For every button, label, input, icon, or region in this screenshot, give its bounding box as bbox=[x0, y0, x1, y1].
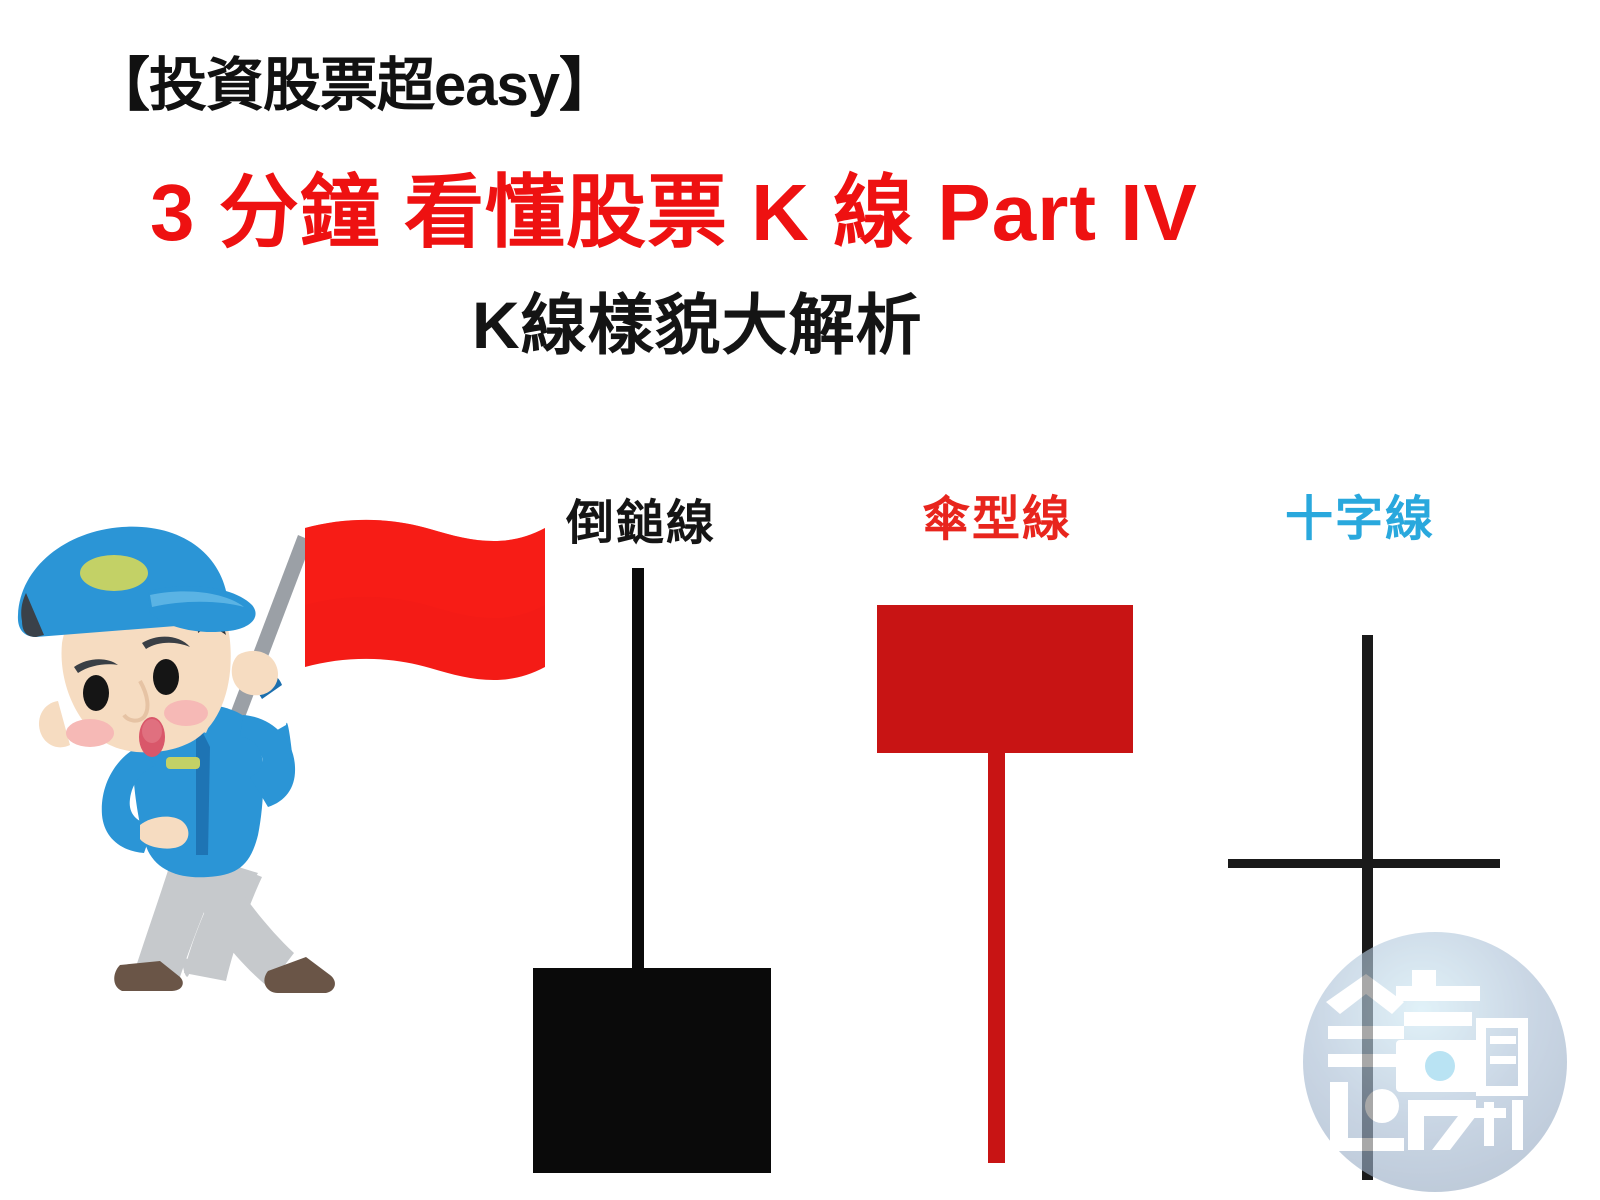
poster-canvas: 【投資股票超easy】 3 分鐘 看懂股票 K 線 Part IV K線樣貌大解… bbox=[0, 0, 1600, 1200]
page-title: 3 分鐘 看懂股票 K 線 Part IV bbox=[150, 148, 1198, 264]
candle-label-umbrella: 傘型線 bbox=[922, 479, 1072, 549]
upper-wick bbox=[632, 568, 644, 968]
candle-body bbox=[533, 968, 771, 1173]
lower-wick bbox=[988, 753, 1005, 1163]
candlestick-umbrella bbox=[860, 560, 1160, 1200]
page-subtitle: K線樣貌大解析 bbox=[472, 272, 923, 368]
candle-label-inverted-hammer: 倒鎚線 bbox=[566, 483, 716, 553]
man-waving-flag-illustration bbox=[0, 495, 560, 1095]
mirror-media-watermark bbox=[1300, 930, 1570, 1195]
red-flag-icon bbox=[305, 520, 545, 680]
kicker-text: 【投資股票超easy】 bbox=[92, 38, 616, 122]
candle-body bbox=[877, 605, 1133, 753]
doji-horizontal-line bbox=[1228, 859, 1500, 868]
candle-label-doji: 十字線 bbox=[1285, 479, 1435, 549]
